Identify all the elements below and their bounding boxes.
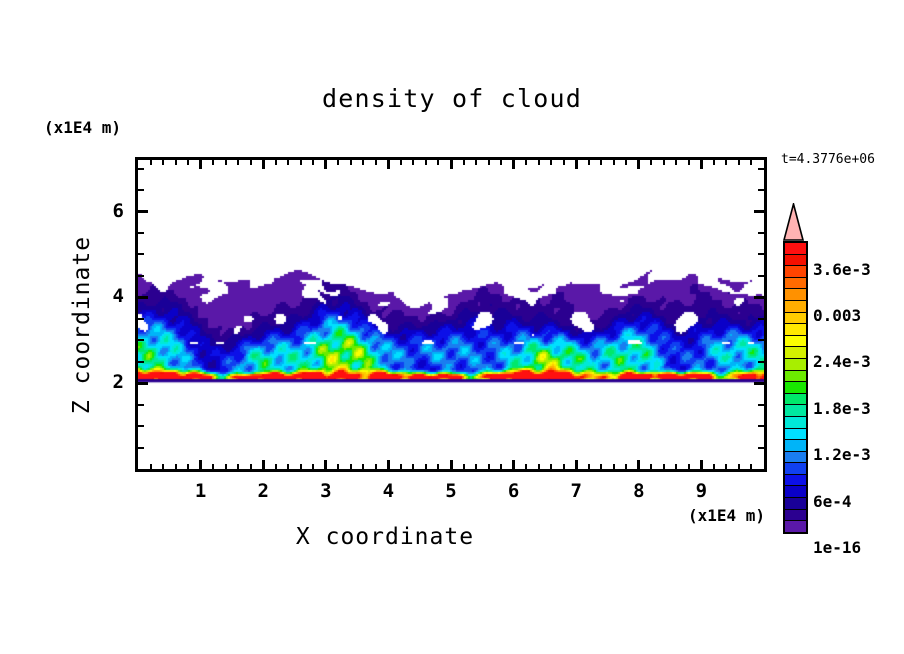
axis-tick bbox=[187, 464, 189, 470]
axis-tick bbox=[525, 159, 527, 165]
x-axis-title: X coordinate bbox=[0, 524, 770, 550]
axis-tick bbox=[500, 464, 502, 470]
axis-tick bbox=[758, 404, 765, 406]
axis-tick bbox=[738, 464, 740, 470]
axis-tick bbox=[400, 464, 402, 470]
axis-tick bbox=[324, 460, 327, 470]
axis-tick bbox=[663, 159, 665, 165]
axis-tick bbox=[437, 159, 439, 165]
axis-tick bbox=[199, 159, 202, 169]
colorbar-band bbox=[785, 265, 806, 277]
axis-tick bbox=[225, 464, 227, 470]
axis-tick bbox=[150, 464, 152, 470]
axis-tick bbox=[275, 159, 277, 165]
colorbar-tick-label: 1.8e-3 bbox=[813, 399, 871, 418]
axis-tick bbox=[754, 296, 765, 299]
axis-tick bbox=[137, 253, 144, 255]
axis-tick bbox=[375, 159, 377, 165]
colorbar-band bbox=[785, 358, 806, 370]
axis-tick bbox=[387, 159, 390, 169]
axis-tick bbox=[750, 159, 752, 165]
axis-tick bbox=[758, 168, 765, 170]
y-axis-title: Z coordinate bbox=[69, 225, 95, 425]
x-tick-label: 3 bbox=[306, 480, 346, 502]
axis-tick bbox=[475, 159, 477, 165]
axis-tick bbox=[750, 464, 752, 470]
axis-tick bbox=[650, 159, 652, 165]
axis-tick bbox=[375, 464, 377, 470]
axis-tick bbox=[725, 464, 727, 470]
axis-tick bbox=[588, 159, 590, 165]
axis-tick bbox=[475, 464, 477, 470]
axis-tick bbox=[350, 159, 352, 165]
axis-tick bbox=[400, 159, 402, 165]
time-annotation: t=4.3776e+06 bbox=[781, 152, 875, 167]
axis-tick bbox=[758, 275, 765, 277]
axis-tick bbox=[663, 464, 665, 470]
axis-tick bbox=[162, 159, 164, 165]
colorbar-band bbox=[785, 474, 806, 486]
colorbar-band bbox=[785, 404, 806, 416]
colorbar-band bbox=[785, 451, 806, 463]
colorbar-tick-label: 1e-16 bbox=[813, 538, 861, 557]
x-tick-label: 5 bbox=[431, 480, 471, 502]
axis-tick bbox=[758, 253, 765, 255]
axis-tick bbox=[512, 159, 515, 169]
colorbar-tick-label: 6e-4 bbox=[813, 492, 852, 511]
axis-tick bbox=[137, 361, 144, 363]
colorbar-band bbox=[785, 370, 806, 382]
colorbar-tick-label: 3.6e-3 bbox=[813, 260, 871, 279]
axis-tick bbox=[725, 159, 727, 165]
axis-tick bbox=[300, 464, 302, 470]
axis-tick bbox=[754, 210, 765, 213]
axis-tick bbox=[675, 464, 677, 470]
axis-tick bbox=[199, 460, 202, 470]
axis-tick bbox=[538, 159, 540, 165]
axis-tick bbox=[300, 159, 302, 165]
y-tick-label: 6 bbox=[84, 200, 124, 222]
axis-tick bbox=[713, 159, 715, 165]
axis-tick bbox=[287, 159, 289, 165]
colorbar-band bbox=[785, 416, 806, 428]
axis-tick bbox=[758, 232, 765, 234]
axis-tick bbox=[563, 464, 565, 470]
axis-tick bbox=[250, 464, 252, 470]
x-tick-label: 6 bbox=[494, 480, 534, 502]
contour-plot bbox=[138, 160, 764, 469]
colorbar-band bbox=[785, 509, 806, 521]
axis-tick bbox=[650, 464, 652, 470]
axis-tick bbox=[137, 189, 144, 191]
axis-tick bbox=[137, 232, 144, 234]
plot-area bbox=[135, 157, 767, 472]
page-title: density of cloud bbox=[0, 84, 904, 113]
axis-tick bbox=[137, 425, 144, 427]
axis-tick bbox=[563, 159, 565, 165]
colorbar-band bbox=[785, 520, 806, 532]
colorbar-band bbox=[785, 254, 806, 266]
axis-tick bbox=[287, 464, 289, 470]
axis-tick bbox=[758, 425, 765, 427]
colorbar-tick-label: 1.2e-3 bbox=[813, 445, 871, 464]
x-tick-label: 2 bbox=[243, 480, 283, 502]
axis-tick bbox=[137, 404, 144, 406]
axis-tick bbox=[700, 460, 703, 470]
axis-tick bbox=[425, 464, 427, 470]
colorbar-band bbox=[785, 428, 806, 440]
axis-tick bbox=[637, 159, 640, 169]
colorbar-band bbox=[785, 485, 806, 497]
axis-tick bbox=[688, 159, 690, 165]
axis-tick bbox=[500, 159, 502, 165]
axis-tick bbox=[463, 159, 465, 165]
colorbar-band bbox=[785, 462, 806, 474]
axis-tick bbox=[312, 159, 314, 165]
axis-tick bbox=[412, 464, 414, 470]
colorbar-band bbox=[785, 393, 806, 405]
axis-tick bbox=[425, 159, 427, 165]
x-tick-label: 4 bbox=[368, 480, 408, 502]
axis-tick bbox=[758, 339, 765, 341]
axis-tick bbox=[262, 159, 265, 169]
axis-tick bbox=[613, 159, 615, 165]
axis-tick bbox=[150, 159, 152, 165]
axis-tick bbox=[512, 460, 515, 470]
axis-tick bbox=[275, 464, 277, 470]
axis-tick bbox=[550, 464, 552, 470]
axis-tick bbox=[250, 159, 252, 165]
axis-tick bbox=[713, 464, 715, 470]
axis-tick bbox=[137, 210, 148, 213]
colorbar-band bbox=[785, 243, 806, 254]
axis-tick bbox=[758, 189, 765, 191]
colorbar-band bbox=[785, 497, 806, 509]
y-tick-label: 4 bbox=[84, 285, 124, 307]
axis-tick bbox=[262, 460, 265, 470]
colorbar-tick-label: 2.4e-3 bbox=[813, 352, 871, 371]
axis-tick bbox=[237, 159, 239, 165]
colorbar-band bbox=[785, 346, 806, 358]
axis-tick bbox=[600, 159, 602, 165]
axis-tick bbox=[754, 382, 765, 385]
axis-tick bbox=[137, 168, 144, 170]
axis-tick bbox=[175, 159, 177, 165]
axis-tick bbox=[337, 159, 339, 165]
axis-tick bbox=[137, 339, 144, 341]
axis-tick bbox=[187, 159, 189, 165]
axis-tick bbox=[312, 464, 314, 470]
axis-tick bbox=[137, 275, 144, 277]
axis-tick bbox=[463, 464, 465, 470]
axis-tick bbox=[362, 464, 364, 470]
colorbar-band bbox=[785, 439, 806, 451]
axis-tick bbox=[387, 460, 390, 470]
axis-tick bbox=[450, 159, 453, 169]
axis-tick bbox=[488, 464, 490, 470]
axis-tick bbox=[212, 159, 214, 165]
colorbar-band bbox=[785, 300, 806, 312]
axis-tick bbox=[575, 159, 578, 169]
axis-tick bbox=[488, 159, 490, 165]
axis-tick bbox=[212, 464, 214, 470]
axis-tick bbox=[688, 464, 690, 470]
axis-tick bbox=[362, 159, 364, 165]
colorbar-band bbox=[785, 312, 806, 324]
axis-tick bbox=[137, 447, 144, 449]
x-tick-label: 8 bbox=[619, 480, 659, 502]
axis-tick bbox=[613, 464, 615, 470]
axis-tick bbox=[758, 447, 765, 449]
y-axis-unit-label: (x1E4 m) bbox=[44, 118, 121, 137]
axis-tick bbox=[437, 464, 439, 470]
axis-tick bbox=[137, 296, 148, 299]
axis-tick bbox=[412, 159, 414, 165]
axis-tick bbox=[600, 464, 602, 470]
x-tick-label: 1 bbox=[181, 480, 221, 502]
axis-tick bbox=[625, 464, 627, 470]
colorbar-band bbox=[785, 277, 806, 289]
axis-tick bbox=[675, 159, 677, 165]
x-tick-label: 7 bbox=[556, 480, 596, 502]
x-tick-label: 9 bbox=[681, 480, 721, 502]
axis-tick bbox=[637, 460, 640, 470]
axis-tick bbox=[137, 382, 148, 385]
axis-tick bbox=[758, 318, 765, 320]
colorbar-bands bbox=[783, 241, 808, 534]
colorbar-overflow-arrow bbox=[783, 203, 804, 241]
axis-tick bbox=[588, 464, 590, 470]
axis-tick bbox=[538, 464, 540, 470]
axis-tick bbox=[337, 464, 339, 470]
colorbar-band bbox=[785, 335, 806, 347]
axis-tick bbox=[525, 464, 527, 470]
colorbar-band bbox=[785, 381, 806, 393]
figure-canvas: density of cloud (x1E4 m) (x1E4 m) t=4.3… bbox=[0, 0, 904, 654]
axis-tick bbox=[758, 361, 765, 363]
axis-tick bbox=[575, 460, 578, 470]
axis-tick bbox=[700, 159, 703, 169]
axis-tick bbox=[450, 460, 453, 470]
colorbar-band bbox=[785, 288, 806, 300]
y-tick-label: 2 bbox=[84, 371, 124, 393]
axis-tick bbox=[324, 159, 327, 169]
axis-tick bbox=[350, 464, 352, 470]
axis-tick bbox=[225, 159, 227, 165]
axis-tick bbox=[738, 159, 740, 165]
axis-tick bbox=[175, 464, 177, 470]
axis-tick bbox=[237, 464, 239, 470]
colorbar-tick-label: 0.003 bbox=[813, 306, 861, 325]
axis-tick bbox=[625, 159, 627, 165]
colorbar-band bbox=[785, 323, 806, 335]
axis-tick bbox=[162, 464, 164, 470]
axis-tick bbox=[550, 159, 552, 165]
axis-tick bbox=[137, 318, 144, 320]
x-axis-unit-label: (x1E4 m) bbox=[688, 506, 765, 525]
